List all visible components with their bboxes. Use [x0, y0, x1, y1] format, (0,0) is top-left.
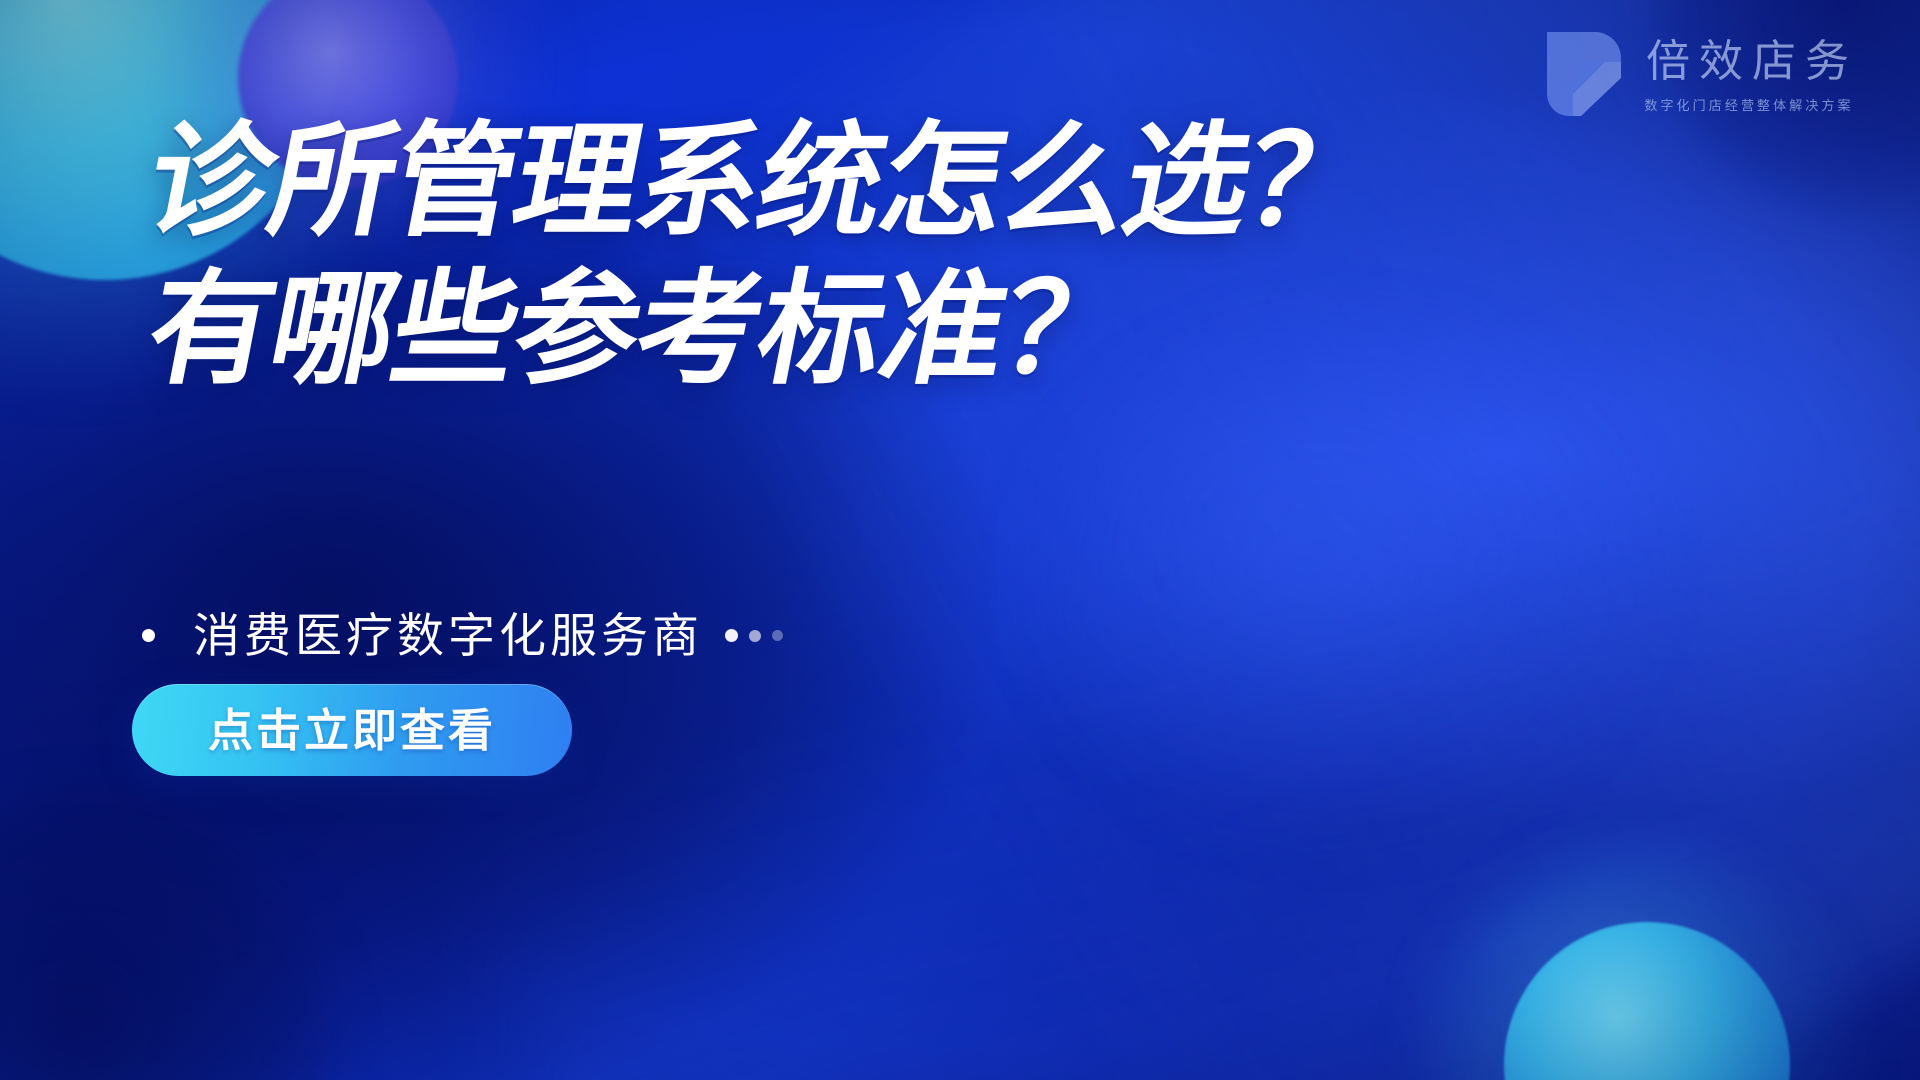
- headline: 诊所管理系统怎么选？ 有哪些参考标准？: [138, 120, 1558, 392]
- headline-line-1: 诊所管理系统怎么选？: [138, 120, 1582, 244]
- subtitle-text: 消费医疗数字化服务商: [193, 612, 703, 659]
- center-glow-decoration: [1037, 324, 1657, 844]
- brand-tagline: 数字化门店经营整体解决方案: [1641, 95, 1853, 114]
- brand-logo: 倍效店务 数字化门店经营整体解决方案: [1547, 32, 1858, 116]
- ellipsis-dots-icon: [725, 629, 783, 642]
- brand-logo-text: 倍效店务 数字化门店经营整体解决方案: [1637, 32, 1858, 114]
- bullet-dot-icon: [142, 629, 155, 642]
- headline-line-2: 有哪些参考标准？: [138, 268, 1582, 392]
- view-now-button-label: 点击立即查看: [208, 708, 496, 753]
- view-now-button[interactable]: 点击立即查看: [132, 684, 572, 776]
- promo-banner: 倍效店务 数字化门店经营整体解决方案 诊所管理系统怎么选？ 有哪些参考标准？ 消…: [0, 0, 1920, 1080]
- brand-name: 倍效店务: [1637, 38, 1858, 86]
- subtitle: 消费医疗数字化服务商: [142, 612, 783, 659]
- d-mark-logo-icon: [1547, 32, 1621, 116]
